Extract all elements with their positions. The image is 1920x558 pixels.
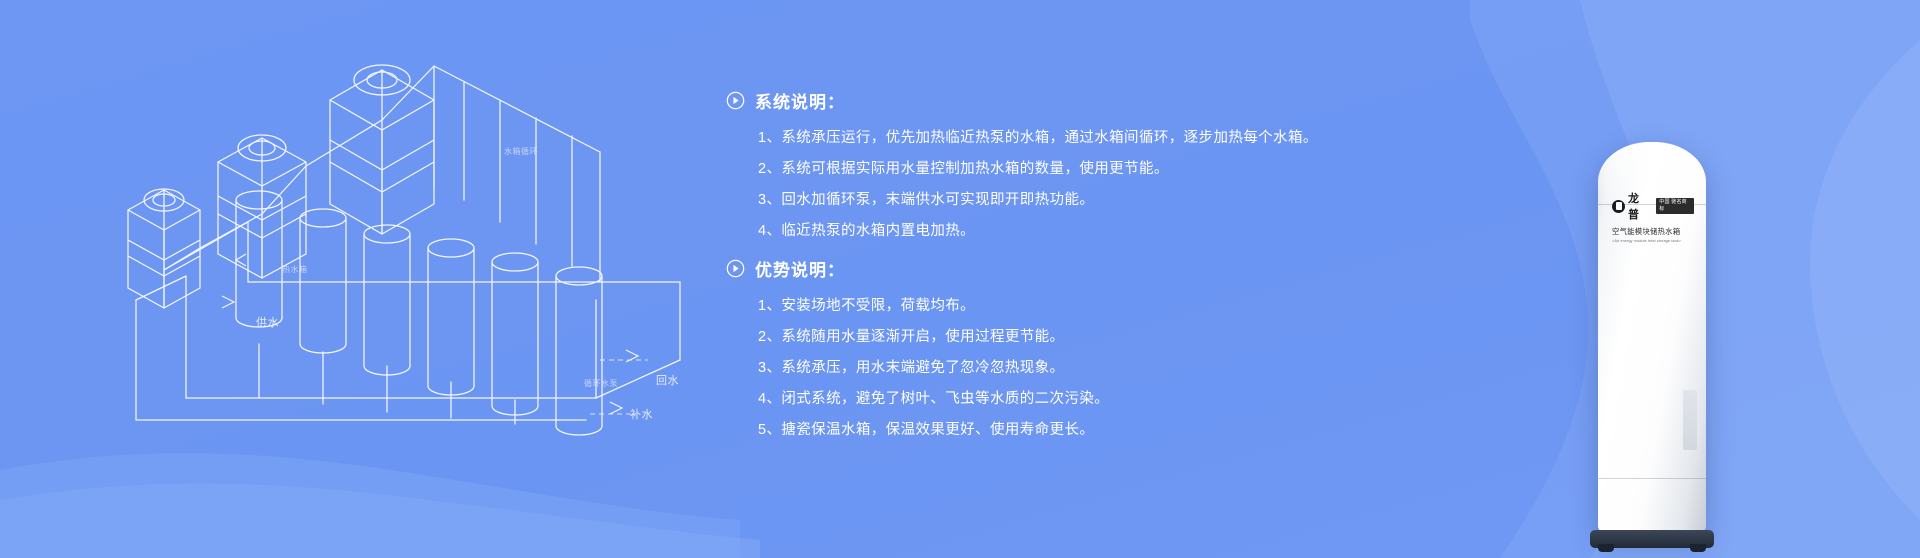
list-item: 3、回水加循环泵，末端供水可实现即开即热功能。	[758, 185, 1346, 216]
section-title: 优势说明：	[755, 256, 845, 281]
tank-seam	[1598, 478, 1706, 479]
tank-branding: 龙普 中国 驰名商标 空气能模块储热水箱 <Air energy module …	[1612, 190, 1694, 243]
system-schematic-diagram: 供水 回水 补水 热水箱 水箱循环 循环水泵	[0, 0, 740, 558]
water-tank-body: 龙普 中国 驰名商标 空气能模块储热水箱 <Air energy module …	[1598, 142, 1706, 534]
list-item: 2、系统可根据实际用水量控制加热水箱的数量，使用更节能。	[758, 154, 1346, 185]
list-item: 2、系统随用水量逐渐开启，使用过程更节能。	[758, 322, 1346, 353]
list-item: 4、临近热泵的水箱内置电加热。	[758, 216, 1346, 247]
schematic-lines	[0, 0, 740, 558]
section-system-description: 系统说明： 1、系统承压运行，优先加热临近热泵的水箱，通过水箱间循环，逐步加热每…	[726, 88, 1346, 247]
play-circle-icon	[726, 259, 745, 278]
section-title: 系统说明：	[755, 88, 845, 113]
section-item-list: 1、系统承压运行，优先加热临近热泵的水箱，通过水箱间循环，逐步加热每个水箱。 2…	[726, 123, 1346, 247]
section-spacer	[726, 249, 1346, 256]
product-banner: 供水 回水 补水 热水箱 水箱循环 循环水泵 系统说明： 1、系统承压运行，优先…	[0, 0, 1920, 558]
product-label-cn: 空气能模块储热水箱	[1612, 226, 1694, 237]
section-header: 系统说明：	[726, 88, 1346, 113]
list-item: 4、闭式系统，避免了树叶、飞虫等水质的二次污染。	[758, 384, 1346, 415]
list-item: 3、系统承压，用水末端避免了忽冷忽热现象。	[758, 353, 1346, 384]
section-item-list: 1、安装场地不受限，荷载均布。 2、系统随用水量逐渐开启，使用过程更节能。 3、…	[726, 291, 1346, 446]
brand-logo-icon	[1612, 200, 1625, 213]
banner-copy: 系统说明： 1、系统承压运行，优先加热临近热泵的水箱，通过水箱间循环，逐步加热每…	[726, 88, 1346, 448]
section-advantage-description: 优势说明： 1、安装场地不受限，荷载均布。 2、系统随用水量逐渐开启，使用过程更…	[726, 256, 1346, 446]
play-circle-icon	[726, 91, 745, 110]
brand-name: 龙普	[1628, 190, 1650, 222]
product-label-en: <Air energy module heat storage tank>	[1612, 238, 1694, 243]
logo-row: 龙普 中国 驰名商标	[1612, 190, 1694, 222]
brand-badge: 中国 驰名商标	[1656, 198, 1694, 214]
list-item: 1、系统承压运行，优先加热临近热泵的水箱，通过水箱间循环，逐步加热每个水箱。	[758, 123, 1346, 154]
tank-control-panel	[1683, 390, 1697, 450]
product-image: 龙普 中国 驰名商标 空气能模块储热水箱 <Air energy module …	[1580, 128, 1770, 548]
section-header: 优势说明：	[726, 256, 1346, 281]
list-item: 1、安装场地不受限，荷载均布。	[758, 291, 1346, 322]
tank-foot	[1598, 544, 1614, 552]
list-item: 5、搪瓷保温水箱，保温效果更好、使用寿命更长。	[758, 415, 1346, 446]
tank-foot	[1690, 544, 1706, 552]
